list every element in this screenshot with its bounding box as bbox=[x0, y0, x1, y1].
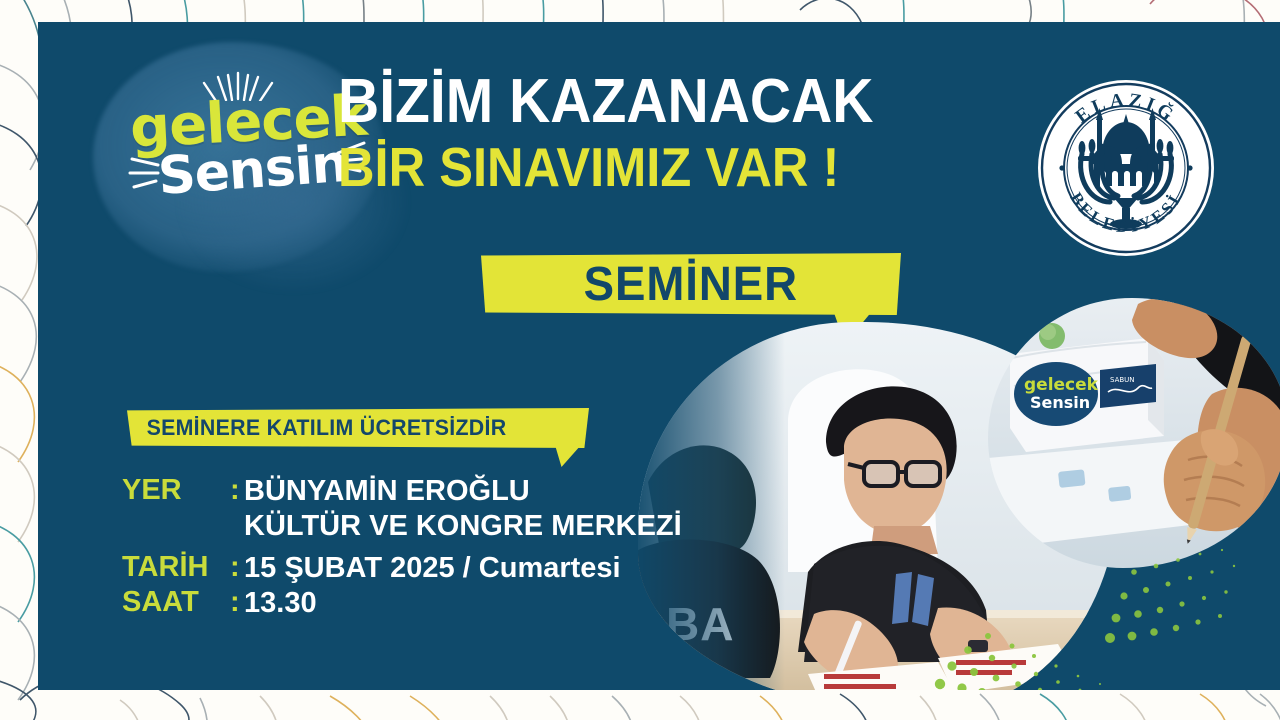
photo-hands-writing: gelecek Sensin SABUN bbox=[988, 298, 1280, 568]
photo-hands-illustration: gelecek Sensin SABUN bbox=[988, 298, 1280, 568]
seal-icon: ELAZIĞ BELEDİYESİ bbox=[1036, 78, 1216, 258]
gelecek-sensin-logo: gelecek Sensin bbox=[130, 77, 360, 212]
svg-text:gelecek: gelecek bbox=[1024, 375, 1099, 395]
detail-label-time: SAAT bbox=[122, 586, 230, 619]
detail-value-venue: BÜNYAMİN EROĞLU KÜLTÜR VE KONGRE MERKEZİ bbox=[244, 474, 682, 545]
svg-text:SABUN: SABUN bbox=[1110, 376, 1135, 384]
event-details: YER : BÜNYAMİN EROĞLU KÜLTÜR VE KONGRE M… bbox=[122, 474, 722, 624]
svg-text:Sensin: Sensin bbox=[1030, 393, 1090, 412]
detail-colon-date: : bbox=[230, 551, 244, 584]
detail-row-time: SAAT : 13.30 bbox=[122, 586, 722, 621]
detail-label-date: TARİH bbox=[122, 551, 230, 584]
free-participation-text: SEMİNERE KATILIM ÜCRETSİZDİR bbox=[147, 415, 507, 441]
detail-value-date: 15 ŞUBAT 2025 / Cumartesi bbox=[244, 551, 621, 586]
seminer-banner: SEMİNER bbox=[481, 253, 901, 315]
headline-block: BİZİM KAZANACAK BİR SINAVIMIZ VAR ! bbox=[338, 70, 998, 195]
headline-line-2: BİR SINAVIMIZ VAR ! bbox=[338, 139, 945, 195]
detail-colon-venue: : bbox=[230, 474, 244, 507]
elazig-municipality-seal: ELAZIĞ BELEDİYESİ bbox=[1036, 78, 1216, 258]
free-participation-banner-tail bbox=[555, 445, 581, 467]
detail-colon-time: : bbox=[230, 586, 244, 619]
detail-label-venue: YER bbox=[122, 474, 230, 507]
free-participation-banner: SEMİNERE KATILIM ÜCRETSİZDİR bbox=[127, 408, 589, 448]
halftone-dots-green-right bbox=[1098, 542, 1278, 652]
headline-line-1: BİZİM KAZANACAK bbox=[338, 70, 945, 133]
poster-card: gelecek Sensin BİZİM KAZANACAK BİR SINAV… bbox=[38, 22, 1280, 690]
detail-row-date: TARİH : 15 ŞUBAT 2025 / Cumartesi bbox=[122, 551, 722, 586]
detail-value-time: 13.30 bbox=[244, 586, 317, 621]
seminer-banner-text: SEMİNER bbox=[584, 257, 798, 312]
detail-row-venue: YER : BÜNYAMİN EROĞLU KÜLTÜR VE KONGRE M… bbox=[122, 474, 722, 545]
